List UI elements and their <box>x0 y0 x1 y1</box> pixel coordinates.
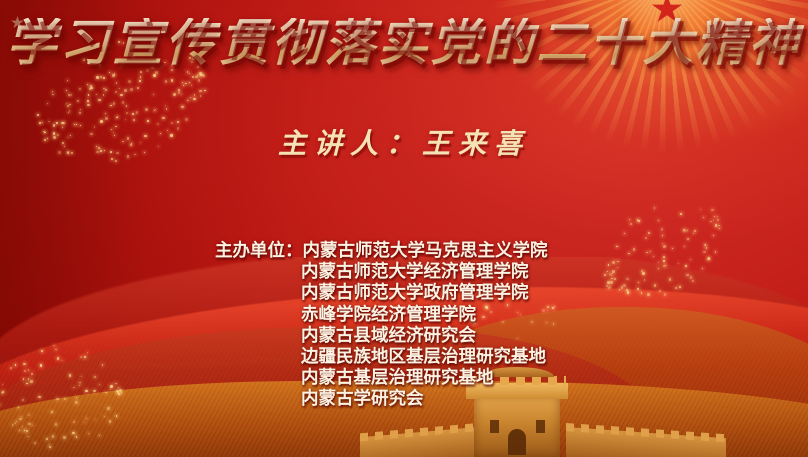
page-title: 学习宣传贯彻落实党的二十大精神 <box>0 18 808 68</box>
organizer-line: 内蒙古师范大学政府管理学院 <box>215 283 548 304</box>
watchtower-window <box>490 420 499 433</box>
speaker-line: 主讲人：王来喜 <box>0 122 808 162</box>
organizer-line: 内蒙古基层治理研究基地 <box>215 368 548 389</box>
organizer-line: 内蒙古师范大学经济管理学院 <box>215 262 548 283</box>
organizer-label-line: 主办单位：内蒙古师范大学马克思主义学院 <box>215 241 548 262</box>
watchtower-arch <box>508 429 526 455</box>
poster-canvas: 学习宣传贯彻落实党的二十大精神 主讲人：王来喜 主办单位：内蒙古师范大学马克思主… <box>0 0 808 457</box>
organizer-line: 内蒙古县域经济研究会 <box>215 326 548 347</box>
organizer-line: 内蒙古学研究会 <box>215 389 548 410</box>
organizer-line: 边疆民族地区基层治理研究基地 <box>215 347 548 368</box>
organizer-line: 赤峰学院经济管理学院 <box>215 305 548 326</box>
organizer-list: 主办单位：内蒙古师范大学马克思主义学院内蒙古师范大学经济管理学院内蒙古师范大学政… <box>215 241 548 411</box>
watchtower-window <box>536 420 545 433</box>
